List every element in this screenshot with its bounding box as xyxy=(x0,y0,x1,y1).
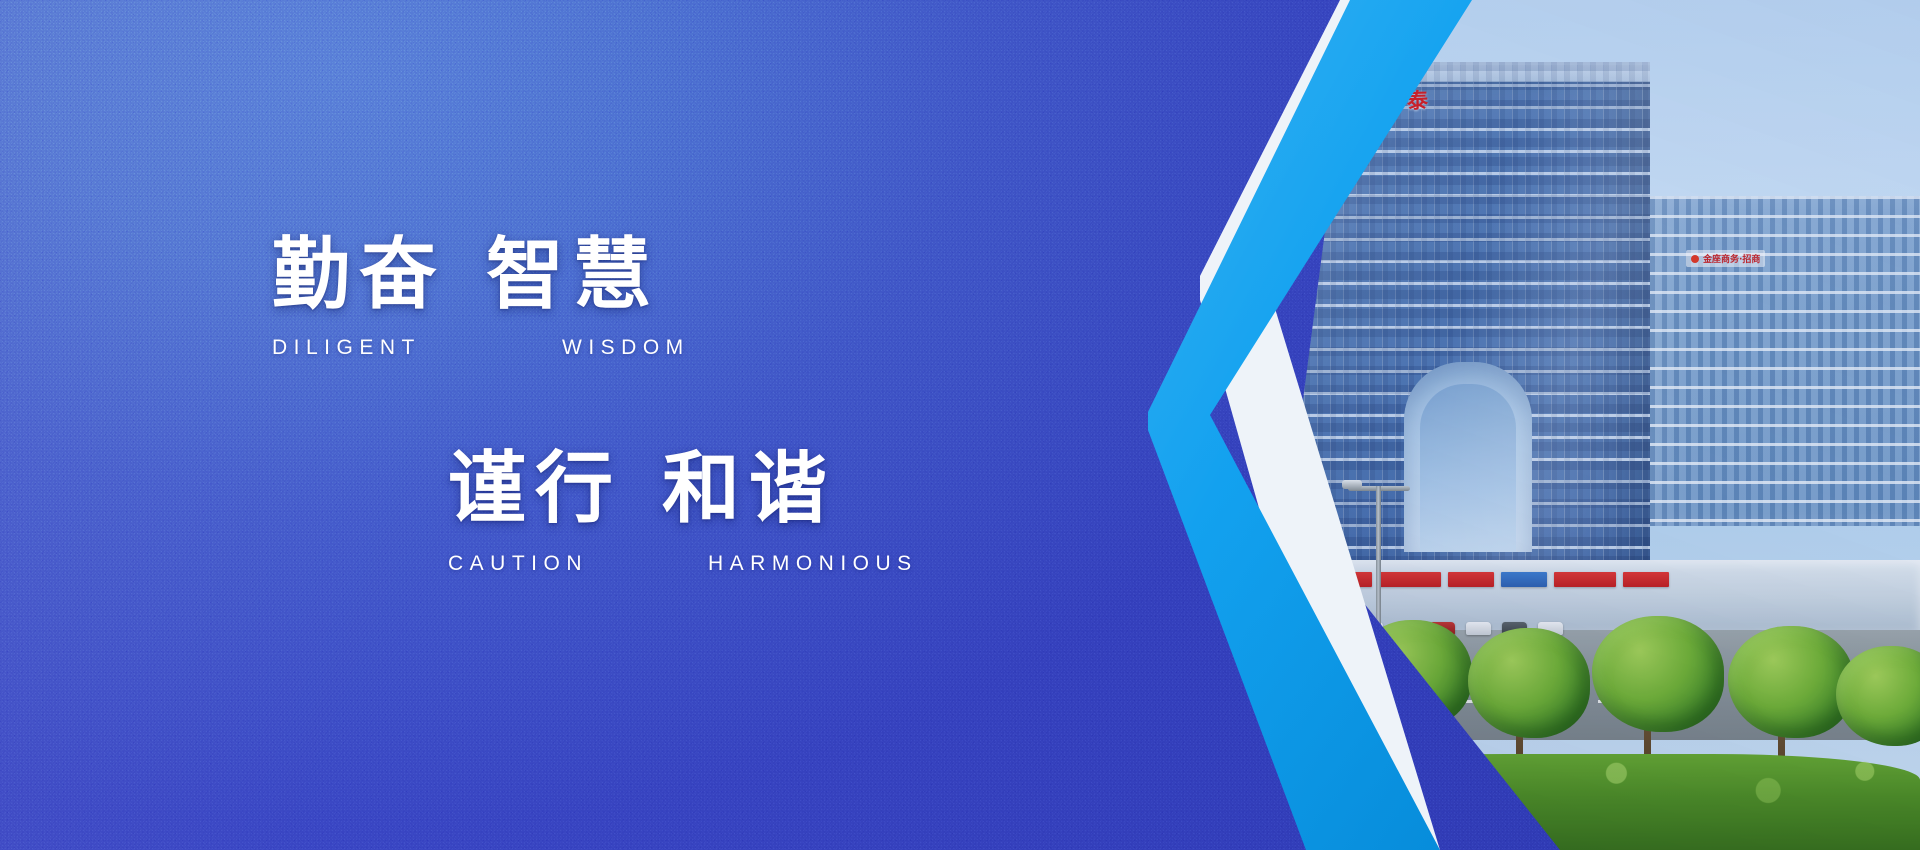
slogan-line-1-cn-group-1: 勤奋 xyxy=(272,236,446,314)
slogan-line-1-chinese: 勤奋 智慧 xyxy=(272,236,690,314)
slogan-line-1: 勤奋 智慧 DILIGENT WISDOM xyxy=(272,236,690,360)
slogan-line-2-cn-group-1: 谨行 xyxy=(448,450,622,528)
slogan-line-2-english: CAUTION HARMONIOUS xyxy=(448,552,918,576)
slogan-line-2-chinese: 谨行 和谐 xyxy=(448,450,918,528)
slogan-spacer xyxy=(622,450,662,528)
slogan-line-1-en-group-1: DILIGENT xyxy=(272,336,562,360)
slogan-line-1-en-group-2: WISDOM xyxy=(562,336,690,360)
hero-banner: 金座商务·招商 江 苏 国 泰 xyxy=(0,0,1920,850)
slogan-line-1-english: DILIGENT WISDOM xyxy=(272,336,690,360)
slogan-spacer xyxy=(446,236,486,314)
slogan-line-2-cn-group-2: 和谐 xyxy=(662,450,836,528)
slogan-block: 勤奋 智慧 DILIGENT WISDOM 谨行 和谐 CAUTION HARM… xyxy=(0,0,1180,850)
slogan-line-1-cn-group-2: 智慧 xyxy=(486,236,660,314)
slogan-line-2: 谨行 和谐 CAUTION HARMONIOUS xyxy=(448,450,918,576)
slogan-line-2-en-group-2: HARMONIOUS xyxy=(708,552,918,576)
slogan-line-2-en-group-1: CAUTION xyxy=(448,552,708,576)
